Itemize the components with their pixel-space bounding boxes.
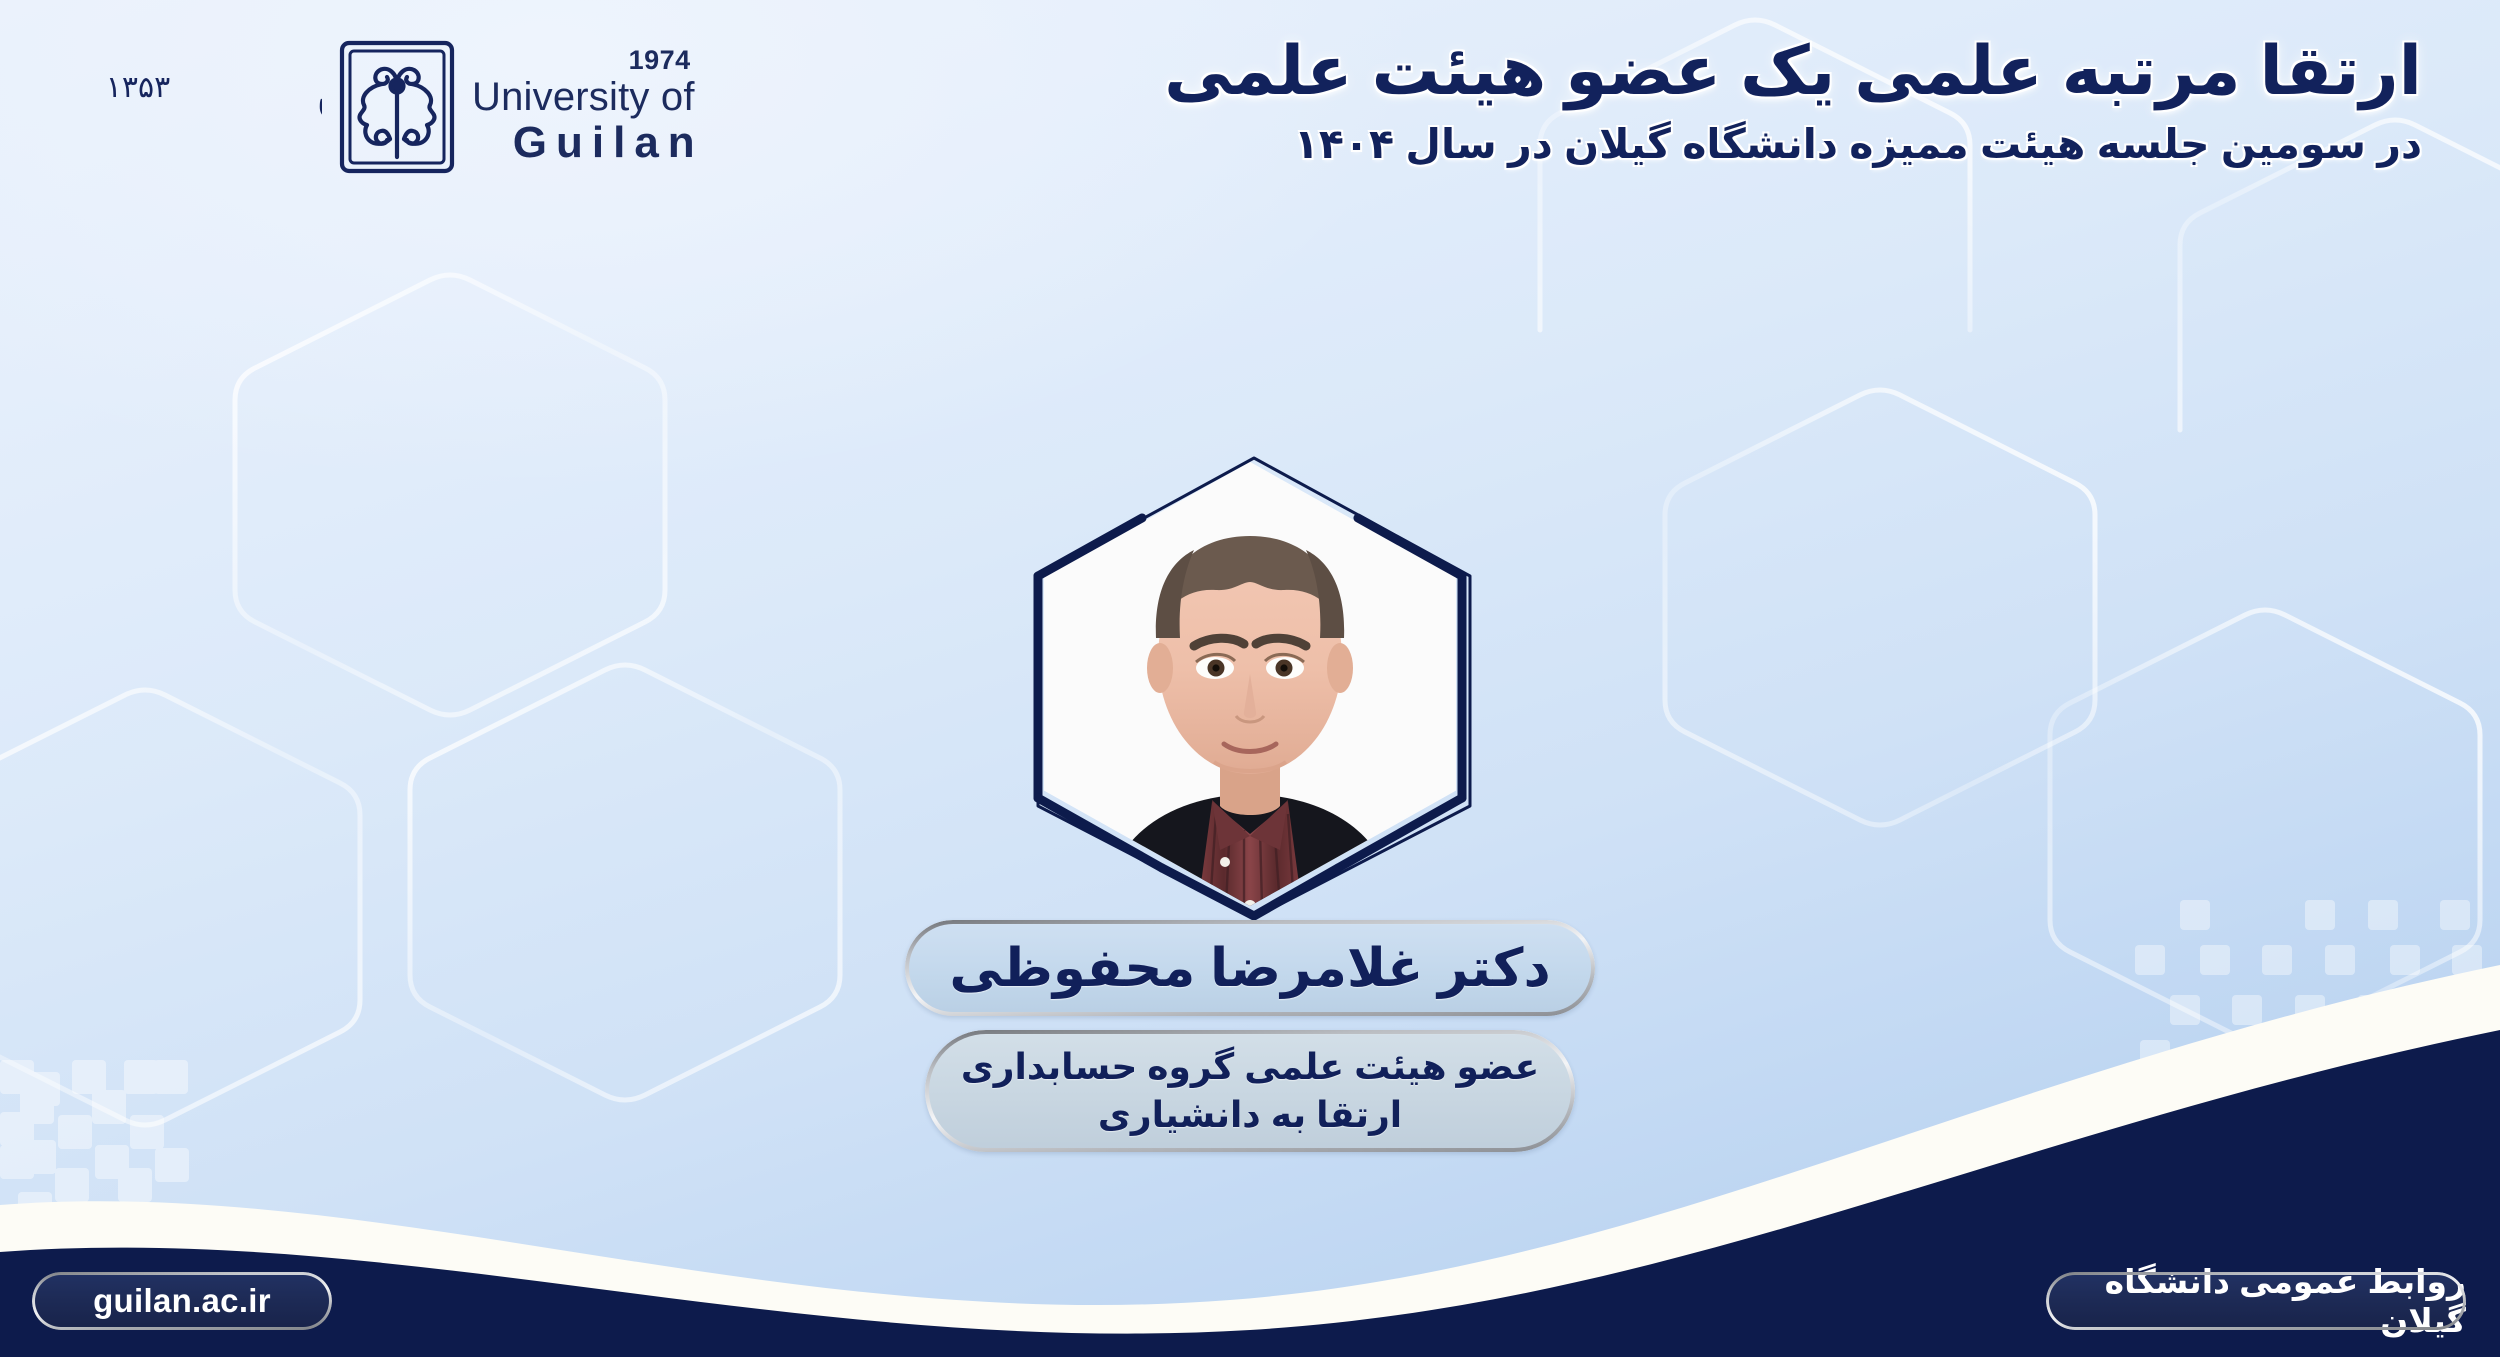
public-relations-pill: روابط عمومی دانشگاه گیلان [2046, 1272, 2466, 1330]
logo-university-of: University of [472, 77, 695, 117]
person-role-line-2: ارتقا به دانشیاری [1098, 1092, 1402, 1138]
website-pill[interactable]: guilan.ac.ir [32, 1272, 332, 1330]
logo-year-gregorian: 1974 [629, 47, 691, 74]
logo-name-persian: دانشگاه گیلان [316, 64, 322, 124]
website-url: guilan.ac.ir [93, 1282, 271, 1320]
person-name-badge: دکتر غلامرضا محفوظی [905, 920, 1595, 1016]
portrait-frame [1022, 450, 1478, 922]
person-role-badge: عضو هیئت علمی گروه حسابداری ارتقا به دان… [925, 1030, 1575, 1152]
logo-guilan: Guilan [513, 121, 704, 165]
person-role-line-1: عضو هیئت علمی گروه حسابداری [961, 1044, 1539, 1090]
public-relations-label: روابط عمومی دانشگاه گیلان [2046, 1262, 2466, 1340]
page-subtitle: در سومین جلسه هیئت ممیزه دانشگاه گیلان د… [1164, 119, 2422, 170]
university-logo: 1974 University of Guilan [84, 34, 695, 184]
poster-canvas: 1974 University of Guilan [0, 0, 2500, 1357]
person-name: دکتر غلامرضا محفوظی [949, 938, 1550, 999]
hexagon-outline-icon [1022, 450, 1478, 922]
header-text-block: ارتقا مرتبه علمی یک عضو هیئت علمی در سوم… [1164, 30, 2422, 170]
page-title: ارتقا مرتبه علمی یک عضو هیئت علمی [1164, 30, 2422, 113]
logo-persian-text: دانشگاه گیلان ۱۳۵۳ [84, 49, 322, 169]
logo-year-persian: ۱۳۵۳ [106, 70, 170, 105]
logo-english-text: 1974 University of Guilan [472, 47, 695, 171]
guilan-university-emblem-icon [338, 39, 456, 180]
